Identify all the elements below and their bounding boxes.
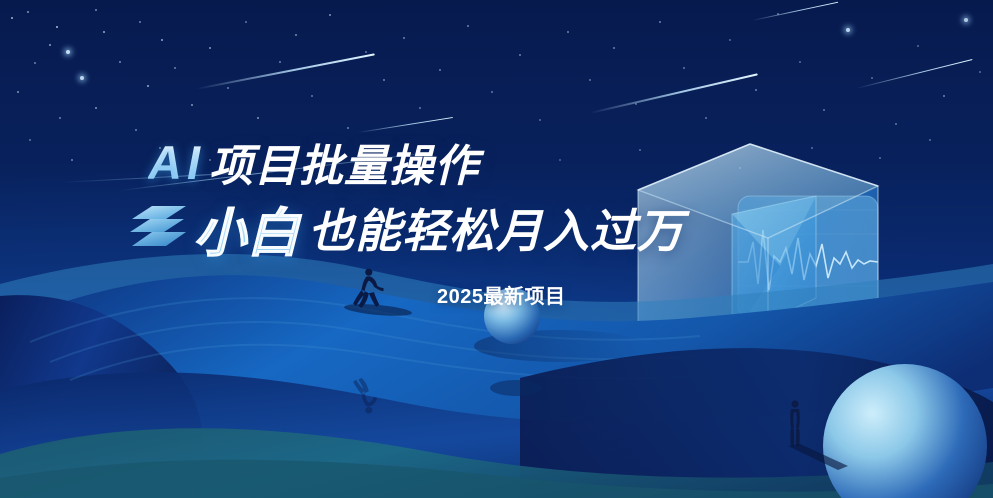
poster-subtitle: 2025最新项目 bbox=[437, 280, 566, 309]
dune-landscape-svg bbox=[0, 238, 993, 498]
meteor-icon bbox=[856, 59, 973, 89]
headline-accent-ai: AI bbox=[148, 135, 209, 190]
headline-accent-xiaobai: 小白 bbox=[194, 191, 308, 266]
meteor-icon bbox=[590, 73, 758, 113]
headline-line-1-text: 项目批量操作 bbox=[209, 130, 479, 194]
stacked-layers-svg bbox=[130, 204, 188, 252]
dune-landscape bbox=[0, 238, 993, 498]
stacked-layers-icon bbox=[130, 204, 188, 252]
meteor-icon bbox=[752, 2, 838, 21]
headline-line-1: AI 项目批量操作 bbox=[0, 132, 780, 192]
headline-block: AI 项目批量操作 bbox=[0, 132, 780, 262]
meteor-icon bbox=[196, 53, 375, 89]
headline-line-2: 小白 也能轻松月入过万 bbox=[0, 194, 780, 262]
promo-poster: AI 项目批量操作 bbox=[0, 0, 993, 498]
headline-line-2-text: 也能轻松月入过万 bbox=[308, 195, 684, 261]
